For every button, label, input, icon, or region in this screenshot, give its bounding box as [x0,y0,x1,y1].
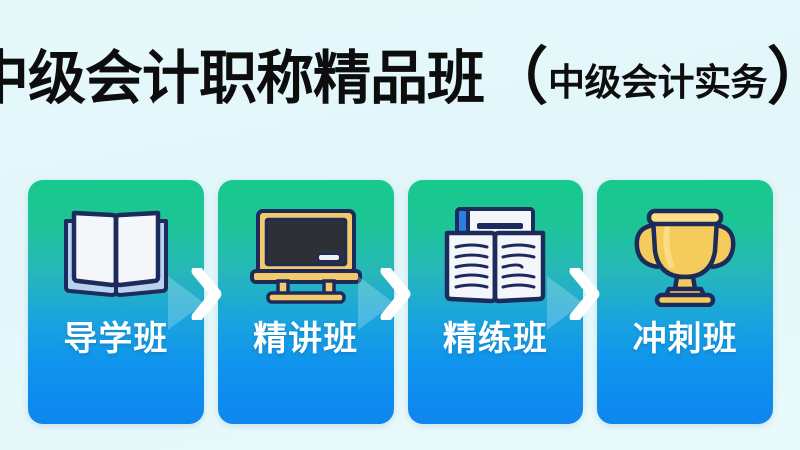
stage-label: 精讲班 [253,322,358,356]
stage-label: 冲刺班 [633,322,738,356]
stage-card-chongci[interactable]: 冲刺班 [597,180,773,424]
stage-label: 导学班 [63,322,168,356]
page-title-paren-open: （ [486,46,548,108]
page-title: 中级会计职称精品班 （ 中级会计实务 ） [0,46,800,108]
trophy-icon [597,180,773,322]
course-stage-list: 导学班 精讲班 [28,180,773,424]
page-title-main: 中级会计职称精品班 [0,49,484,107]
blackboard-icon [218,180,394,322]
stage-label: 精练班 [443,322,548,356]
stage-card-jingjiang[interactable]: 精讲班 [218,180,394,424]
stage-card-jinglian[interactable]: 精练班 [408,180,584,424]
open-book-icon [28,180,204,322]
page-title-paren-close: ） [767,46,800,108]
workbook-icon [408,180,584,322]
stage-card-daoxue[interactable]: 导学班 [28,180,204,424]
page-title-subtitle: 中级会计实务 [548,64,767,101]
